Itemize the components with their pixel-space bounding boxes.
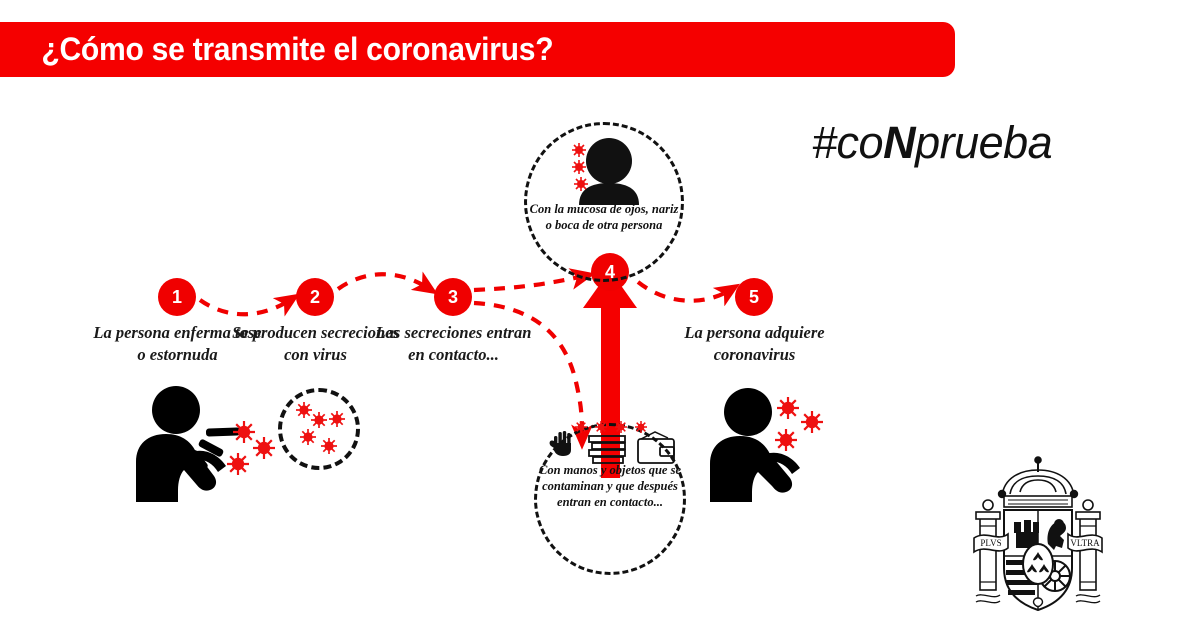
connector-3-to-4 [474,276,584,290]
step-node-2[interactable]: 2 [296,278,334,316]
connector-1-to-2 [200,300,290,314]
step-caption-5: La persona adquiere coronavirus [667,322,842,366]
connector-4-to-5 [638,282,730,301]
books-icon [589,436,625,463]
coughing-person-icon [130,378,280,508]
step-node-5[interactable]: 5 [735,278,773,316]
step-caption-3: Las secreciones entran en contacto... [366,322,541,366]
step-node-3[interactable]: 3 [434,278,472,316]
spanish-coat-of-arms: PLVS VLTRA [958,452,1118,622]
motto-left: PLVS [980,538,1001,548]
bubble-fomite: Con manos y objetos que se contaminan y … [534,423,686,575]
motto-right: VLTRA [1070,538,1100,548]
wallet-icon [638,432,674,463]
bubble-fomite-caption: Con manos y objetos que se contaminan y … [537,462,683,510]
virus-cluster-icon [282,392,358,468]
bubble-mucosa-caption: Con la mucosa de ojos, nariz o boca de o… [527,201,681,233]
virus-icon [572,143,588,191]
step-node-1[interactable]: 1 [158,278,196,316]
bubble-secretions [278,388,360,470]
hand-icon [550,431,571,456]
virus-icon [775,397,823,451]
connector-2-to-3 [338,274,428,289]
pomegranate-charge [1034,598,1043,607]
crown-icon [999,457,1078,507]
infected-person-icon [700,378,850,508]
bubble-mucosa: Con la mucosa de ojos, nariz o boca de o… [524,122,684,282]
virus-icon [575,421,647,433]
